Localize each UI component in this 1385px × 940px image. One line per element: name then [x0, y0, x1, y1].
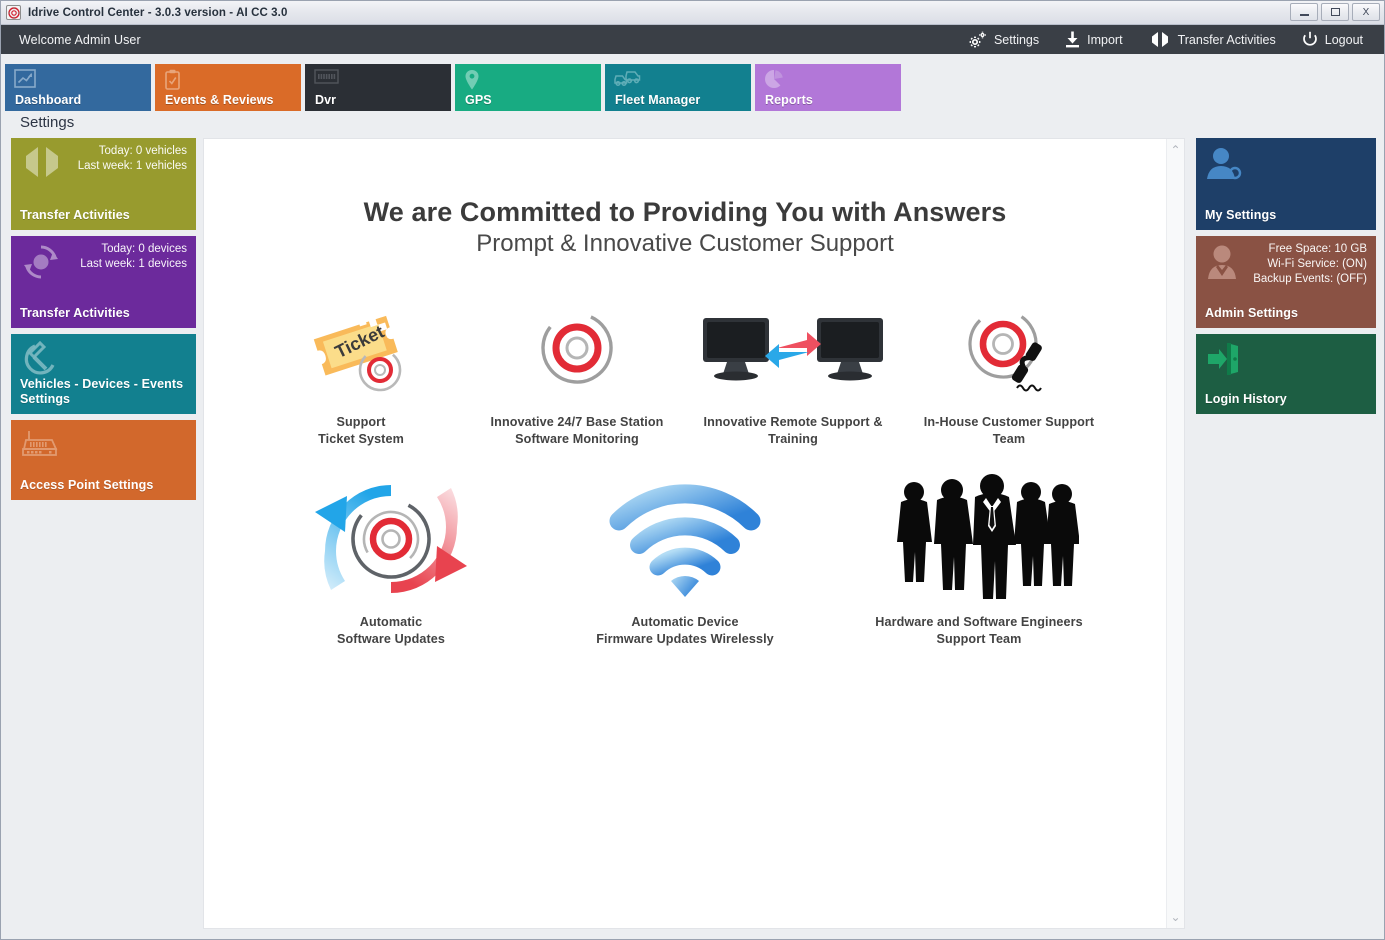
- tab-events-reviews-label: Events & Reviews: [165, 93, 274, 107]
- pie-chart-icon: [764, 69, 784, 94]
- feature-support-ticket-system: Ticket SupportTicket System: [253, 292, 469, 448]
- page-body: Today: 0 vehicles Last week: 1 vehicles …: [1, 138, 1384, 939]
- tile-label: Vehicles - Devices - Events Settings: [20, 377, 187, 407]
- login-door-icon: [1205, 341, 1243, 380]
- tab-reports-label: Reports: [765, 93, 813, 107]
- wrench-icon: [20, 341, 58, 382]
- feature-base-station-monitoring: Innovative 24/7 Base StationSoftware Mon…: [469, 292, 685, 448]
- people-group-icon: [879, 474, 1079, 604]
- user-settings-icon: [1205, 145, 1243, 188]
- dvr-icon: [314, 69, 339, 89]
- tile-admin-settings[interactable]: Free Space: 10 GB Wi-Fi Service: (ON) Ba…: [1196, 236, 1376, 328]
- feature-remote-support-training: Innovative Remote Support &Training: [685, 292, 901, 448]
- settings-button[interactable]: Settings: [955, 25, 1052, 54]
- tab-reports[interactable]: Reports: [755, 64, 901, 111]
- feature-caption: Automatic DeviceFirmware Updates Wireles…: [596, 614, 774, 648]
- tile-vehicles-devices-events-settings[interactable]: Vehicles - Devices - Events Settings: [11, 334, 196, 414]
- tab-fleet-manager[interactable]: Fleet Manager: [605, 64, 751, 111]
- support-subheading: Prompt & Innovative Customer Support: [204, 230, 1166, 258]
- support-page: We are Committed to Providing You with A…: [204, 139, 1166, 674]
- tile-label: Access Point Settings: [20, 478, 187, 493]
- close-button[interactable]: X: [1352, 3, 1380, 21]
- tab-fleet-manager-label: Fleet Manager: [615, 93, 700, 107]
- window-titlebar: Idrive Control Center - 3.0.3 version - …: [1, 1, 1384, 25]
- refresh-target-icon: [301, 474, 481, 604]
- window-title: Idrive Control Center - 3.0.3 version - …: [28, 7, 287, 19]
- tile-access-point-settings[interactable]: Access Point Settings: [11, 420, 196, 500]
- chevron-down-icon[interactable]: ⌄: [1170, 911, 1180, 923]
- transfer-activities-button[interactable]: Transfer Activities: [1136, 25, 1289, 54]
- tile-login-history[interactable]: Login History: [1196, 334, 1376, 414]
- content-vertical-scrollbar[interactable]: ⌃ ⌄: [1166, 139, 1184, 928]
- tile-stat-line: Today: 0 devices: [20, 242, 187, 257]
- target-icon: [6, 5, 21, 20]
- tile-label: Transfer Activities: [20, 306, 187, 321]
- toolbar-actions: Settings Import: [955, 25, 1376, 54]
- feature-engineers-support-team: Hardware and Software EngineersSupport T…: [832, 474, 1126, 648]
- transfer-activities-label: Transfer Activities: [1178, 33, 1276, 47]
- support-feature-row-1: Ticket SupportTicket System: [204, 292, 1166, 474]
- minimize-icon: [1300, 14, 1309, 16]
- feature-caption: SupportTicket System: [318, 414, 404, 448]
- feature-caption: Innovative Remote Support &Training: [703, 414, 882, 448]
- support-feature-row-2: AutomaticSoftware Updates: [204, 474, 1166, 674]
- gears-icon: [968, 31, 987, 48]
- router-icon: [20, 427, 62, 466]
- tile-stat-line: Free Space: 10 GB: [1205, 242, 1367, 257]
- feature-in-house-support-team: In-House Customer SupportTeam: [901, 292, 1117, 448]
- map-pin-icon: [464, 69, 480, 96]
- tile-label: Login History: [1205, 392, 1367, 407]
- tab-gps-label: GPS: [465, 93, 492, 107]
- two-monitors-icon: [697, 292, 889, 404]
- logout-button[interactable]: Logout: [1289, 25, 1376, 54]
- tab-gps[interactable]: GPS: [455, 64, 601, 111]
- app-toolbar: Welcome Admin User: [1, 25, 1384, 54]
- tile-label: Transfer Activities: [20, 208, 187, 223]
- maximize-button[interactable]: [1321, 3, 1349, 21]
- settings-label: Settings: [994, 33, 1039, 47]
- tab-dashboard-label: Dashboard: [15, 93, 81, 107]
- tile-label: Admin Settings: [1205, 306, 1367, 321]
- close-icon: X: [1363, 7, 1370, 18]
- application-window: Idrive Control Center - 3.0.3 version - …: [0, 0, 1385, 940]
- feature-automatic-software-updates: AutomaticSoftware Updates: [244, 474, 538, 648]
- tile-label: My Settings: [1205, 208, 1367, 223]
- minimize-button[interactable]: [1290, 3, 1318, 21]
- feature-caption: AutomaticSoftware Updates: [337, 614, 445, 648]
- feature-caption: In-House Customer SupportTeam: [924, 414, 1094, 448]
- download-icon: [1065, 31, 1080, 48]
- welcome-message: Welcome Admin User: [19, 33, 141, 47]
- logout-label: Logout: [1325, 33, 1363, 47]
- tile-stat-line: Today: 0 vehicles: [20, 144, 187, 159]
- target-phone-icon: [955, 292, 1063, 404]
- tile-my-settings[interactable]: My Settings: [1196, 138, 1376, 230]
- tile-stats: Today: 0 vehicles Last week: 1 vehicles: [20, 144, 187, 174]
- window-controls: X: [1290, 3, 1380, 21]
- power-icon: [1302, 31, 1318, 48]
- chevron-up-icon[interactable]: ⌃: [1170, 144, 1180, 156]
- feature-device-firmware-updates: Automatic DeviceFirmware Updates Wireles…: [538, 474, 832, 648]
- tile-stats: Free Space: 10 GB Wi-Fi Service: (ON) Ba…: [1205, 242, 1367, 287]
- import-button[interactable]: Import: [1052, 25, 1135, 54]
- left-tile-column: Today: 0 vehicles Last week: 1 vehicles …: [11, 138, 196, 929]
- tab-dvr-label: Dvr: [315, 93, 336, 107]
- support-ticket-icon: Ticket: [306, 292, 416, 404]
- tile-stat-line: Last week: 1 devices: [20, 257, 187, 272]
- tile-stat-line: Last week: 1 vehicles: [20, 159, 187, 174]
- wifi-signal-icon: [605, 474, 765, 604]
- tab-dashboard[interactable]: Dashboard: [5, 64, 151, 111]
- vehicles-icon: [614, 69, 641, 92]
- support-heading: We are Committed to Providing You with A…: [204, 197, 1166, 228]
- tile-stats: Today: 0 devices Last week: 1 devices: [20, 242, 187, 272]
- import-label: Import: [1087, 33, 1122, 47]
- tile-stat-line: Wi-Fi Service: (ON): [1205, 257, 1367, 272]
- tile-stat-line: Backup Events: (OFF): [1205, 272, 1367, 287]
- target-rings-icon: [527, 292, 627, 404]
- tab-events-reviews[interactable]: Events & Reviews: [155, 64, 301, 111]
- clipboard-check-icon: [164, 69, 181, 95]
- chart-line-icon: [14, 69, 36, 94]
- maximize-icon: [1331, 8, 1340, 16]
- feature-caption: Innovative 24/7 Base StationSoftware Mon…: [491, 414, 664, 448]
- right-tile-column: My Settings Free Space: 10 GB Wi-Fi Serv…: [1196, 138, 1376, 929]
- tab-dvr[interactable]: Dvr: [305, 64, 451, 111]
- content-panel: We are Committed to Providing You with A…: [203, 138, 1185, 929]
- tile-transfer-activities-devices[interactable]: Today: 0 devices Last week: 1 devices Tr…: [11, 236, 196, 328]
- feature-caption: Hardware and Software EngineersSupport T…: [875, 614, 1082, 648]
- content-scroll-area: We are Committed to Providing You with A…: [204, 139, 1166, 928]
- tile-transfer-activities-vehicles[interactable]: Today: 0 vehicles Last week: 1 vehicles …: [11, 138, 196, 230]
- module-tabbar: Dashboard Events & Reviews: [1, 54, 1384, 106]
- transfer-arrows-icon: [1149, 31, 1171, 48]
